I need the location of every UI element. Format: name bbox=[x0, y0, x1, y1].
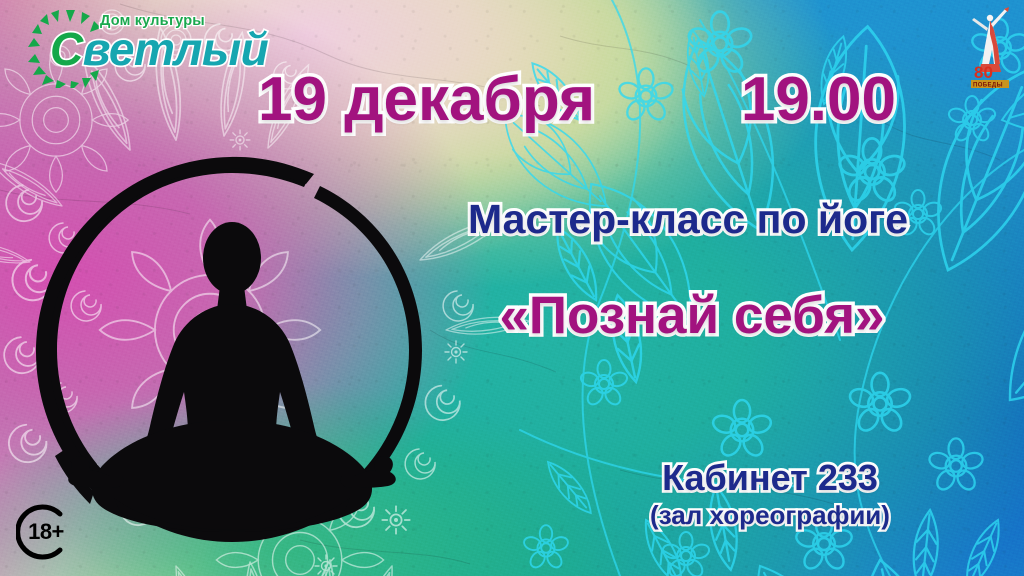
victory-caption: ПОБЕДЫ bbox=[973, 83, 1003, 89]
poster: Дом культуры Светлый 80 bbox=[0, 0, 1024, 576]
event-name: «Познай себя» bbox=[382, 288, 1002, 344]
logo[interactable]: Дом культуры Светлый bbox=[14, 4, 229, 88]
logo-first-letter: С bbox=[50, 23, 83, 75]
age-restriction-label: 18+ bbox=[16, 503, 74, 561]
event-date: 19 декабря bbox=[258, 69, 595, 131]
event-time: 19.00 bbox=[741, 69, 896, 131]
venue-hall: (зал хореографии) bbox=[540, 500, 1000, 531]
event-title: Мастер-класс по йоге bbox=[378, 198, 998, 241]
motherland-calls-statue-icon: 80 ПОБЕДЫ bbox=[968, 6, 1012, 90]
date-time-row: 19 декабря 19.00 bbox=[258, 62, 918, 138]
venue-block: Кабинет 233 (зал хореографии) bbox=[540, 458, 1000, 531]
yoga-lotus-pose-icon bbox=[68, 222, 396, 532]
victory-emblem[interactable]: 80 ПОБЕДЫ bbox=[968, 6, 1012, 90]
victory-number: 80 bbox=[974, 63, 993, 82]
logo-word-rest: ветлый bbox=[83, 23, 269, 75]
logo-wordmark: Светлый bbox=[50, 26, 268, 72]
venue-room: Кабинет 233 bbox=[540, 458, 1000, 498]
age-restriction-icon: 18+ bbox=[16, 503, 74, 561]
